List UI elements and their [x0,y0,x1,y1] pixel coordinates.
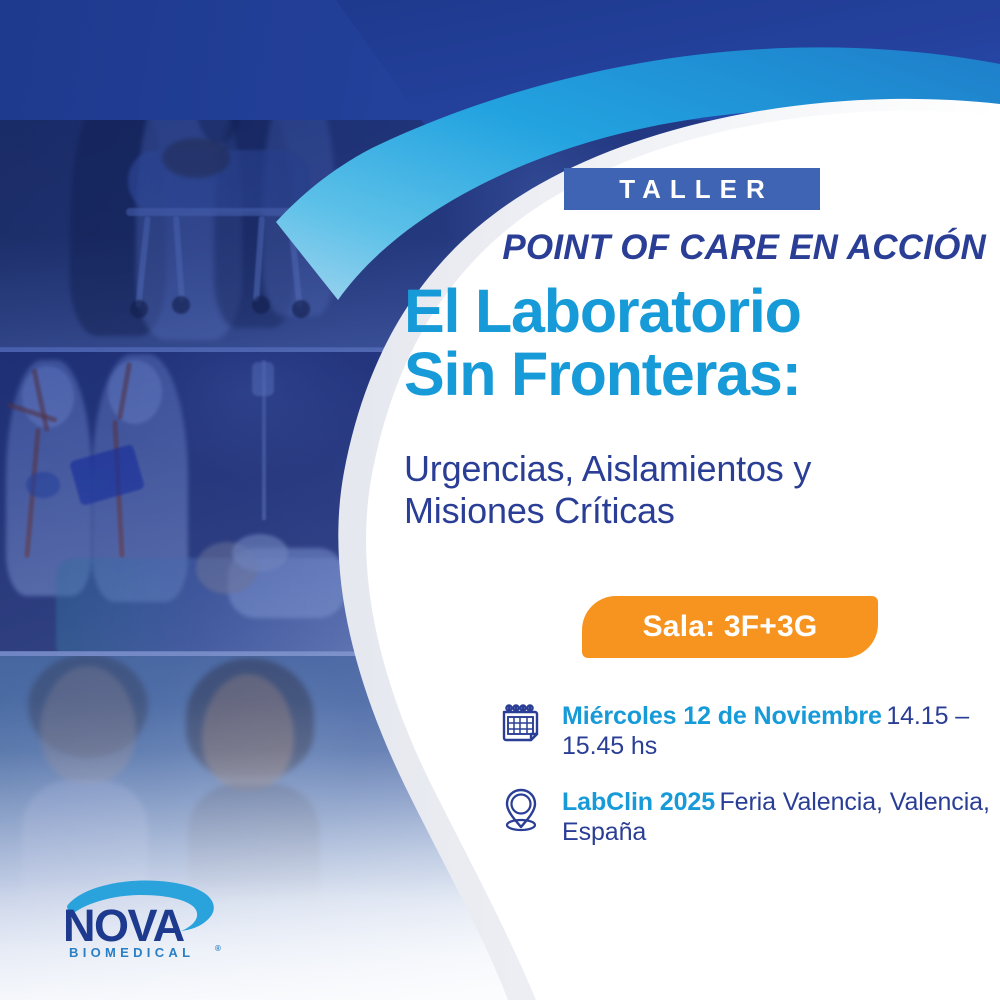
kicker-text: POINT OF CARE EN ACCIÓN [410,228,1000,268]
gurney-wheel [172,296,190,314]
subheadline-line-1: Urgencias, Aislamientos y [404,448,811,489]
headline-line-1: El Laboratorio [404,277,801,345]
subheadline-line-2: Misiones Críticas [404,490,1000,532]
nova-biomedical-logo: NOVA BIOMEDICAL ® [55,872,245,962]
patient-hair [232,534,288,572]
gloved-hand [78,468,108,492]
gurney-wheel [252,296,270,314]
gurney-wheel [130,300,148,318]
logo-artwork: NOVA BIOMEDICAL ® [55,872,245,962]
venue-text: LabClin 2025 Feria Valencia, Valencia, E… [562,786,1000,847]
registered-trademark-icon: ® [215,944,221,953]
venue-title: LabClin 2025 [562,788,715,816]
headline-line-2: Sin Fronteras: [404,343,1000,406]
room-label: Sala: 3F+3G [643,610,818,644]
calendar-icon [500,700,544,748]
logo-wordmark: NOVA [63,900,185,951]
event-type-label: TALLER [610,174,774,205]
logo-tagline: BIOMEDICAL [69,945,194,960]
venue-info-row: LabClin 2025 Feria Valencia, Valencia, E… [500,786,1000,847]
subheadline: Urgencias, Aislamientos y Misiones Críti… [404,448,1000,533]
ppe-hood [108,360,162,424]
room-badge: Sala: 3F+3G [582,596,878,658]
gurney-wheel [292,300,310,318]
headline: El Laboratorio Sin Fronteras: [404,280,1000,406]
poster-content: TALLER POINT OF CARE EN ACCIÓN El Labora… [404,0,1000,1000]
event-type-badge: TALLER [564,168,820,210]
date-text: Miércoles 12 de Noviembre 14.15 – 15.45 … [562,700,1000,761]
gurney-frame [126,208,316,216]
promotional-poster: TALLER POINT OF CARE EN ACCIÓN El Labora… [0,0,1000,1000]
map-pin-icon [500,786,544,834]
iv-bag [252,362,274,396]
gloved-hand [26,472,60,498]
patient-body [162,138,230,178]
date-title: Miércoles 12 de Noviembre [562,702,882,730]
date-info-row: Miércoles 12 de Noviembre 14.15 – 15.45 … [500,700,1000,761]
